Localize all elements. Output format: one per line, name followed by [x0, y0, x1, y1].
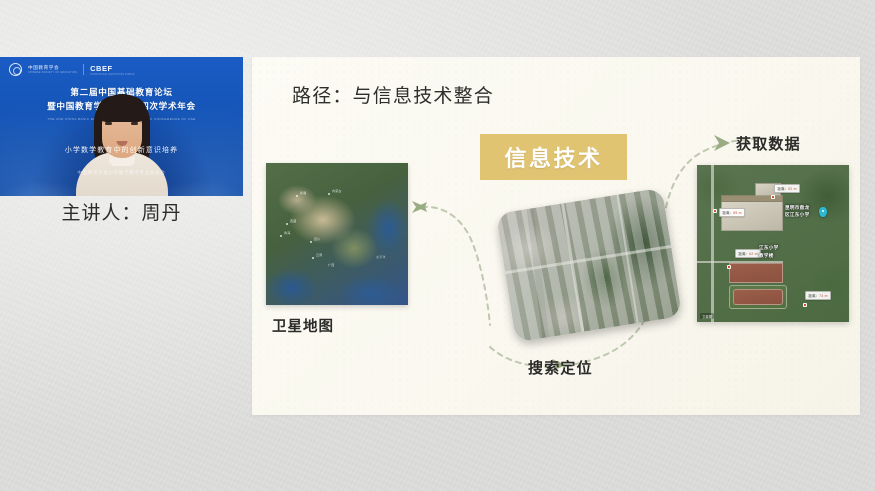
aerial-road — [616, 195, 638, 324]
map-region-label: 青海 — [284, 231, 290, 235]
presenter-eye-left — [105, 122, 112, 125]
distance-label: 距离：52 m — [774, 184, 800, 193]
map-region-label: 广西 — [328, 263, 334, 267]
aerial-photo-image — [496, 188, 682, 343]
distance-value: 85 m — [733, 211, 741, 215]
aerial-road — [505, 245, 671, 274]
cbef-logo-subtext: CHINA BASIC EDUCATION FORUM — [90, 73, 135, 76]
video-topic-title: 小学数学教育中的创新意识培养 — [0, 145, 243, 155]
map-region-label: 西藏 — [290, 219, 296, 223]
step-label-acquire-data: 获取数据 — [736, 133, 801, 154]
distance-label: 距离：85 m — [719, 208, 745, 217]
map-poi-name-line-2: 区江东小学 — [785, 212, 809, 218]
map-overlay-name-line-2: 教学楼 — [759, 253, 774, 259]
measure-endpoint — [727, 265, 731, 269]
map-ocean-label: 太平洋 — [376, 255, 386, 259]
map-marker — [280, 235, 282, 237]
logo-divider — [83, 64, 84, 75]
speaker-caption: 主讲人：周丹 — [0, 198, 243, 225]
measure-endpoint — [803, 303, 807, 307]
map-marker — [328, 193, 330, 195]
conference-video-thumbnail[interactable]: 中国教育学会 CHINESE SOCIETY OF EDUCATION CBEF… — [0, 57, 243, 196]
cse-logo-subtext: CHINESE SOCIETY OF EDUCATION — [28, 71, 77, 74]
map-street — [711, 165, 714, 322]
distance-value: 62 m — [749, 252, 757, 256]
map-overlay-name-line-1: 江东小学 — [759, 245, 779, 251]
map-marker — [286, 223, 288, 225]
map-marker — [296, 195, 298, 197]
aerial-road — [561, 203, 584, 332]
conference-logo: 中国教育学会 CHINESE SOCIETY OF EDUCATION CBEF… — [9, 63, 135, 76]
satellite-map-image: 新疆 内蒙古 西藏 青海 四川 云南 广西 太平洋 — [266, 163, 408, 305]
step-label-satellite-map: 卫星地图 — [272, 315, 334, 336]
map-sports-field — [729, 263, 783, 283]
map-marker — [312, 257, 314, 259]
map-region-label: 内蒙古 — [332, 189, 342, 193]
cbef-logo-text: CBEF — [90, 64, 135, 73]
video-organizer-line: 中国教育学会小学数学教学专业委员会 — [0, 170, 243, 176]
aerial-photo-tilted-wrapper — [496, 188, 682, 343]
map-poi-name-line-1: 昆明市盘龙 — [785, 205, 809, 211]
distance-label: 距离：74 m — [805, 291, 831, 300]
annotated-campus-map-image: 距离：52 m 距离：85 m 距离：62 m 距离：74 m 昆明市盘龙 区江… — [697, 165, 849, 322]
map-track-infield — [733, 289, 783, 305]
distance-prefix: 距离： — [809, 294, 820, 298]
presentation-slide: 路径：与信息技术整合 信息技术 新疆 内蒙古 西藏 青海 四川 云南 广西 太平… — [252, 57, 860, 415]
step-label-search-locate: 搜索定位 — [528, 357, 593, 378]
distance-prefix: 距离： — [739, 252, 750, 256]
map-marker — [310, 241, 312, 243]
map-region-label: 四川 — [314, 237, 320, 241]
presenter-hair-front — [97, 96, 147, 122]
distance-prefix: 距离： — [723, 211, 734, 215]
cse-emblem-icon — [9, 63, 22, 76]
cse-logo-text: 中国教育学会 — [28, 65, 77, 72]
map-region-label: 新疆 — [300, 191, 306, 195]
slide-title: 路径：与信息技术整合 — [292, 81, 494, 108]
distance-prefix: 距离： — [778, 187, 789, 191]
map-corner-tag: 卫星图 — [700, 313, 714, 319]
distance-value: 74 m — [819, 294, 827, 298]
map-region-label: 云南 — [316, 253, 322, 257]
presenter-figure — [74, 88, 170, 196]
map-poi-pin-icon — [819, 207, 827, 217]
highlight-box-information-technology: 信息技术 — [480, 134, 627, 180]
highlight-box-label: 信息技术 — [504, 141, 602, 173]
distance-label: 距离：62 m — [735, 249, 761, 258]
measure-endpoint — [713, 209, 717, 213]
measure-endpoint — [771, 195, 775, 199]
presenter-eye-right — [131, 122, 138, 125]
distance-value: 52 m — [788, 187, 796, 191]
